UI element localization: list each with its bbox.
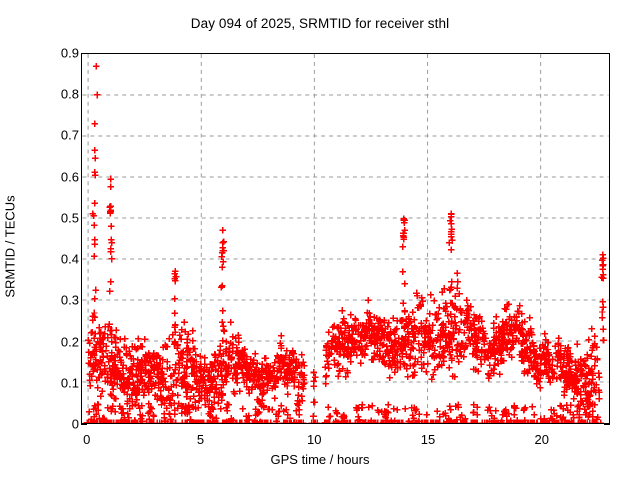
y-tick-label: 0.3: [9, 293, 87, 308]
chart-canvas: Day 094 of 2025, SRMTID for receiver sth…: [0, 0, 640, 480]
y-tick-label: 0.6: [9, 169, 87, 184]
x-tick-label: 0: [67, 432, 107, 447]
y-tick-label: 0.9: [9, 46, 87, 61]
y-tick-mark: [81, 424, 87, 425]
y-tick-label: 0.7: [9, 128, 87, 143]
y-tick-label: 0: [9, 417, 87, 432]
plot-area: [81, 53, 610, 424]
y-tick-mark: [604, 424, 610, 425]
x-tick-label: 5: [180, 432, 220, 447]
scatter-points: [82, 54, 609, 423]
y-tick-label: 0.1: [9, 375, 87, 390]
x-tick-label: 15: [408, 432, 448, 447]
y-tick-label: 0.8: [9, 87, 87, 102]
y-tick-label: 0.4: [9, 252, 87, 267]
x-tick-label: 10: [294, 432, 334, 447]
x-tick-label: 20: [522, 432, 562, 447]
y-tick-label: 0.5: [9, 210, 87, 225]
chart-title: Day 094 of 2025, SRMTID for receiver sth…: [0, 16, 640, 31]
x-axis-title: GPS time / hours: [0, 452, 640, 467]
y-tick-label: 0.2: [9, 334, 87, 349]
